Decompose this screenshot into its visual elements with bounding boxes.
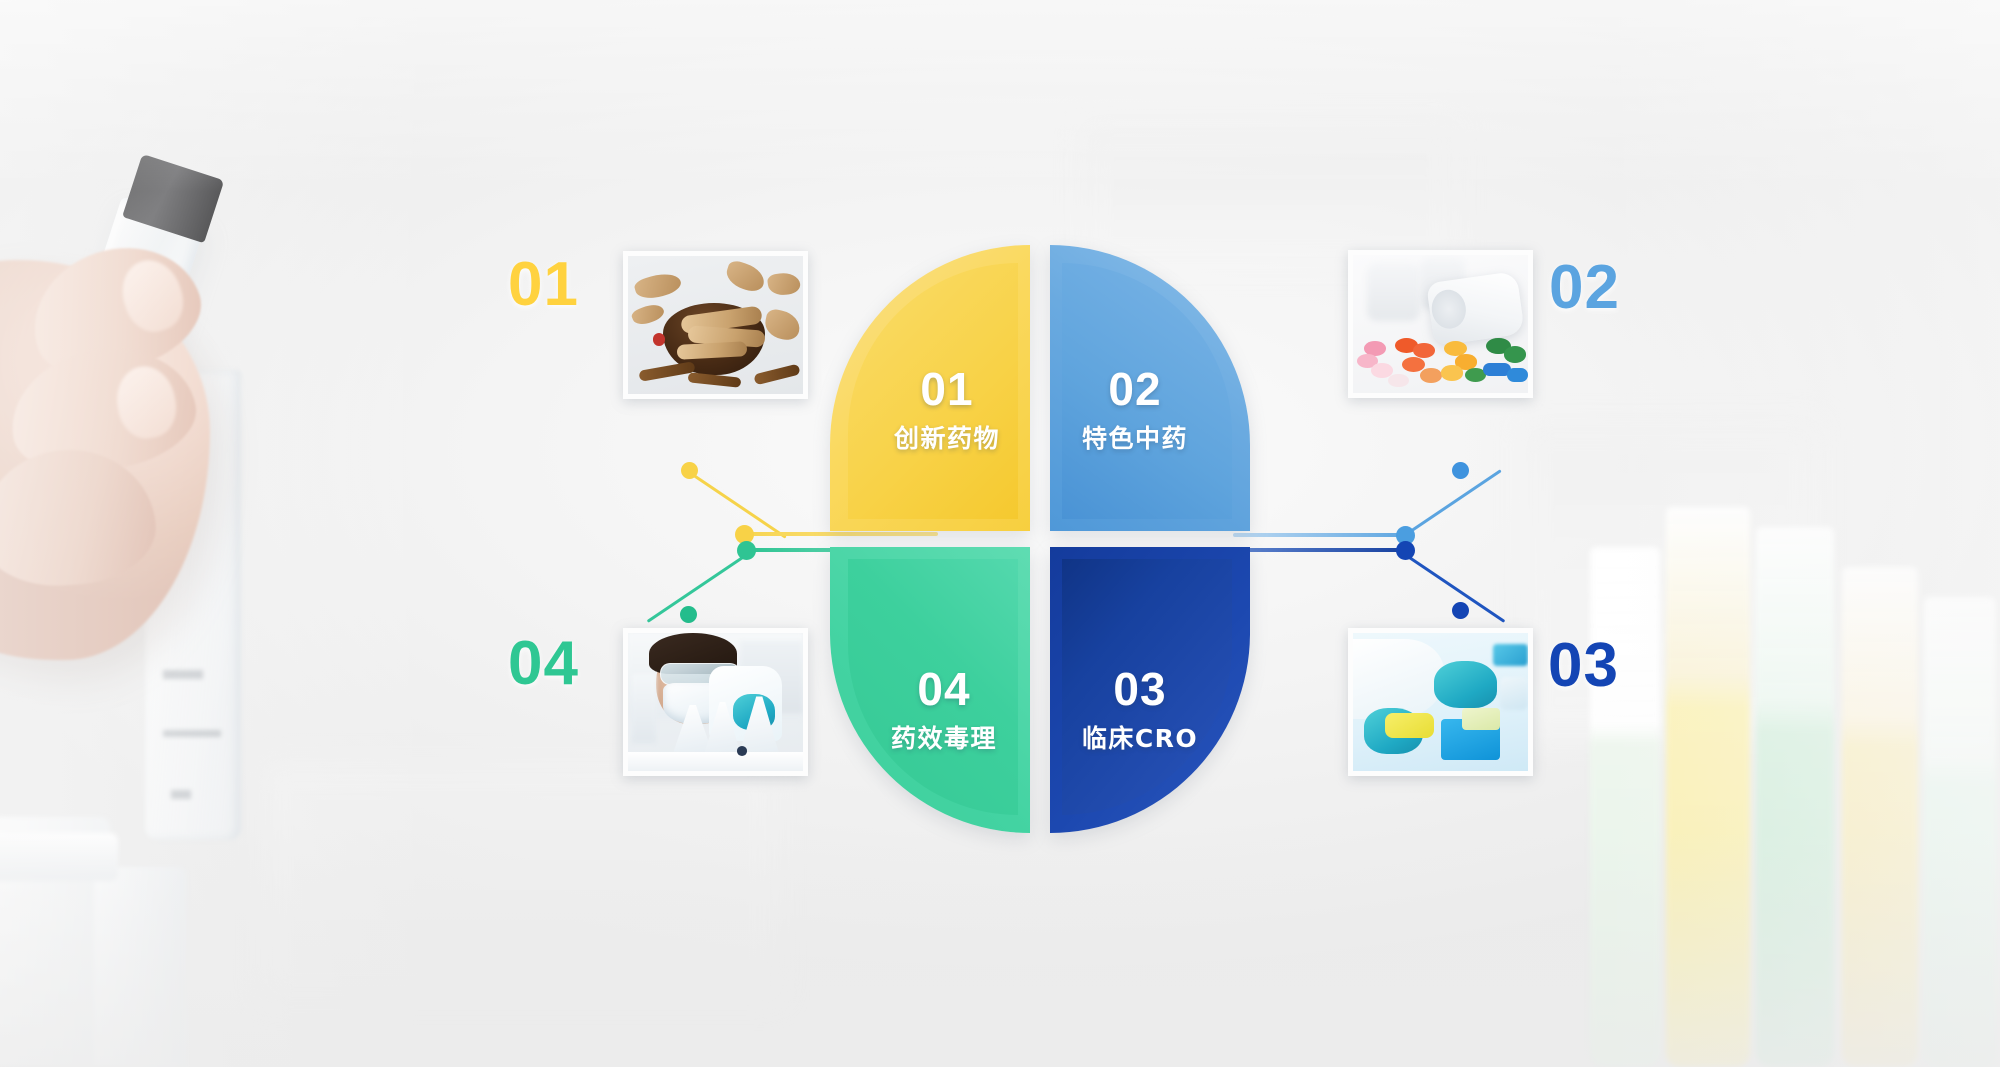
connector-03-horizontal: [1233, 548, 1413, 552]
blurred-jar: [1367, 263, 1420, 321]
segment-01-inner-ring: [848, 263, 1018, 519]
infographic-layer: 01 创新药物 02 特色中药 03 临床CRO 04 药效毒理 01 02 0…: [0, 0, 2000, 1067]
connector-04-endpoint-dot: [680, 606, 697, 623]
thumbnail-pills-bottle[interactable]: [1348, 250, 1533, 398]
herb-chip: [633, 269, 683, 303]
poster-canvas: 01 创新药物 02 特色中药 03 临床CRO 04 药效毒理 01 02 0…: [0, 0, 2000, 1067]
herb-chip: [767, 270, 801, 296]
segment-03-clinical-cro[interactable]: [1050, 547, 1250, 833]
connector-02-endpoint-dot: [1452, 462, 1469, 479]
connector-02-horizontal: [1233, 533, 1413, 537]
connector-04-junction-dot: [737, 541, 756, 560]
connector-03-endpoint-dot: [1452, 602, 1469, 619]
segment-01-innovative-drugs[interactable]: [830, 245, 1030, 531]
pill: [1504, 346, 1527, 363]
herb-chip: [762, 308, 802, 342]
thumbnail-herbal-medicine[interactable]: [623, 251, 808, 399]
segment-03-inner-ring: [1062, 559, 1232, 815]
herb-bark: [687, 372, 740, 387]
pill-bottle: [1426, 271, 1525, 347]
thumbnail-capsule-production[interactable]: [1348, 628, 1533, 776]
connector-03-junction-dot: [1396, 541, 1415, 560]
segment-02-tcm[interactable]: [1050, 245, 1250, 531]
segment-04-inner-ring: [848, 559, 1018, 815]
herb-chip: [630, 300, 665, 327]
herb-chip: [723, 259, 767, 295]
pill: [1507, 368, 1528, 382]
lab-scientist-image: [628, 633, 803, 771]
pill: [1388, 374, 1409, 388]
thumbnail-lab-scientist[interactable]: [623, 628, 808, 776]
capsule-production-image: [1353, 633, 1528, 771]
connector-04-diagonal: [647, 553, 748, 623]
yellow-capsules: [1385, 713, 1434, 738]
pill: [1441, 365, 1464, 380]
segment-02-inner-ring: [1062, 263, 1232, 519]
quadrant-wheel: 01 创新药物 02 特色中药 03 临床CRO 04 药效毒理: [830, 245, 1250, 833]
connector-01-endpoint-dot: [681, 462, 698, 479]
segment-04-pharmacology[interactable]: [830, 547, 1030, 833]
herb-bark: [753, 364, 800, 386]
pill: [1420, 368, 1443, 383]
bottle-mouth: [1429, 287, 1469, 331]
outer-number-03: 03: [1548, 630, 1619, 701]
outer-number-04: 04: [508, 628, 579, 699]
herb-bark: [638, 362, 695, 383]
outer-number-02: 02: [1549, 252, 1620, 323]
lab-coat-sleeve: [1353, 639, 1444, 719]
connector-02-diagonal: [1402, 469, 1502, 537]
pills-bottle-image: [1353, 255, 1528, 393]
herbal-medicine-image: [628, 256, 803, 394]
outer-number-01: 01: [508, 249, 579, 320]
gloved-hand: [1434, 661, 1497, 708]
